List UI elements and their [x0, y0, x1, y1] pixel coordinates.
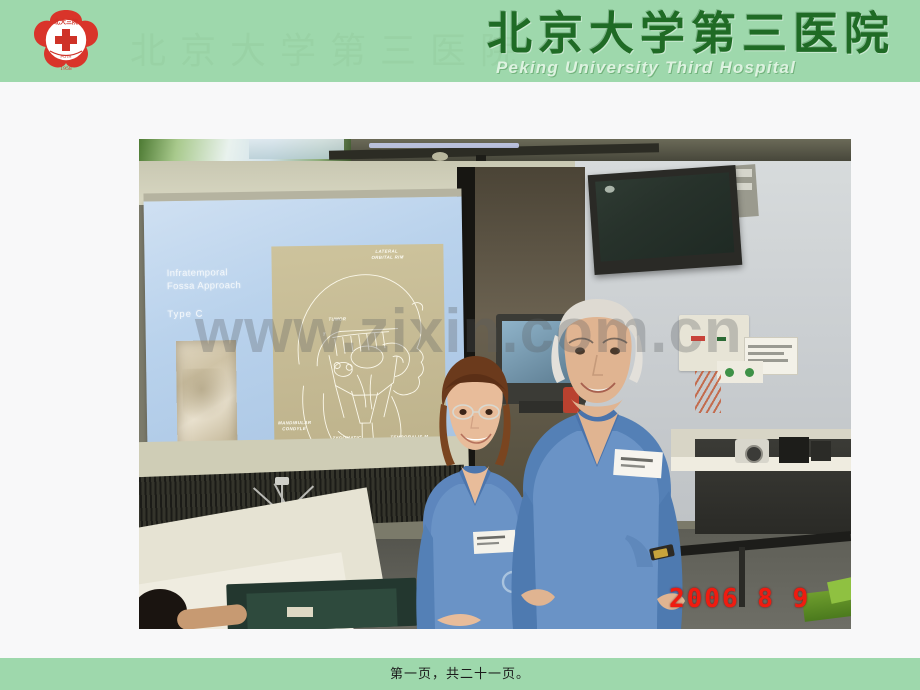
header-ghost-text: 北京大学第三医院 [130, 22, 530, 74]
slide-title-line1: Infratemporal [167, 266, 241, 280]
control-box-green-led [717, 337, 726, 341]
orange-cables [695, 371, 721, 413]
conference-photo: Infratemporal Fossa Approach Type C [139, 139, 851, 629]
svg-text:北大三院: 北大三院 [54, 18, 78, 26]
camera-lens [745, 445, 763, 463]
projected-slide-title: Infratemporal Fossa Approach [167, 266, 242, 293]
monitor-mount-plate-2 [736, 183, 752, 190]
page-indicator: 第一页，共二十一页。 [0, 663, 920, 682]
label-mandibular-condyle-line1: MANDIBULAR [278, 420, 311, 426]
monitor-mount-plate-1 [736, 169, 752, 177]
slide-title-line2: Fossa Approach [167, 279, 241, 293]
photo-timestamp: 2006 8 9 [669, 584, 810, 614]
equipment-case-label [287, 607, 313, 617]
wall-sign-line-2 [748, 352, 784, 355]
wall-sign-line-1 [748, 345, 792, 348]
wall-monitor [588, 165, 743, 275]
black-device-2 [811, 441, 831, 461]
wall-sign-secondary [717, 361, 763, 383]
slide-page: 北京大学第三医院 北大三院 PUTH 1958 北京大学第三医院 Peking … [0, 0, 920, 690]
label-t-marker: T [323, 332, 326, 338]
label-lateral-orbital-rim-line2: ORBITAL RIM [371, 254, 403, 260]
hospital-name-cn: 北京大学第三医院 [487, 8, 895, 60]
svg-text:PUTH: PUTH [61, 54, 72, 59]
label-tumor: TUMOR [328, 316, 346, 322]
person-man [507, 299, 687, 629]
wall-sign-green-dot-1 [725, 368, 734, 377]
wall-sign-green-dot-2 [745, 368, 754, 377]
ceiling-knob [432, 152, 448, 161]
control-box-red-label [691, 336, 705, 341]
tripod-hub [275, 477, 289, 485]
projected-slide-type: Type C [167, 309, 203, 321]
hospital-name-en: Peking University Third Hospital [496, 58, 796, 78]
ceiling-light [369, 143, 519, 148]
wall-monitor-screen [595, 172, 734, 261]
label-mandibular-condyle-line2: CONDYLE [282, 426, 306, 432]
black-device-1 [779, 437, 809, 463]
equipment-case-inner [246, 588, 397, 629]
hospital-logo-icon: 北大三院 PUTH 1958 [24, 7, 108, 77]
svg-text:1958: 1958 [60, 66, 72, 72]
